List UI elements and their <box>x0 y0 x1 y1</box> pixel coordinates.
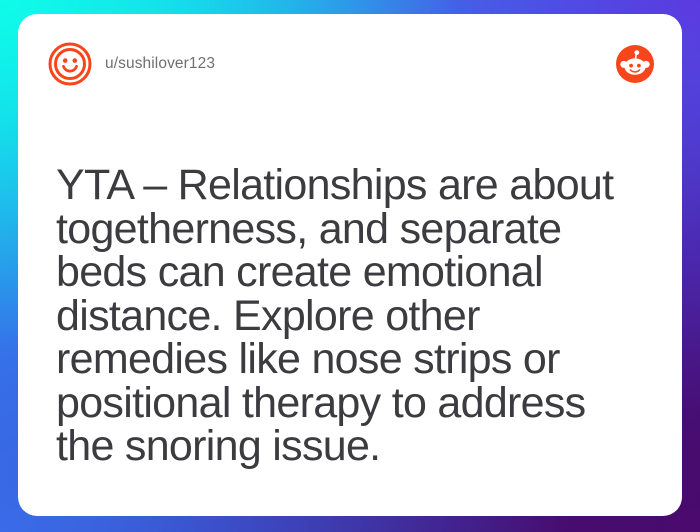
reddit-post-card: u/sushilover123 YTA – Relationship <box>18 14 682 516</box>
author-username[interactable]: u/sushilover123 <box>105 55 215 73</box>
author-block: u/sushilover123 <box>48 42 215 86</box>
post-header: u/sushilover123 <box>48 40 654 88</box>
smiley-face-avatar-icon[interactable] <box>48 42 92 86</box>
reddit-snoo-logo-icon[interactable] <box>616 45 654 83</box>
post-body: YTA – Relationships are about togetherne… <box>56 164 652 469</box>
gradient-background: u/sushilover123 YTA – Relationship <box>0 0 700 532</box>
post-text: YTA – Relationships are about togetherne… <box>56 164 652 469</box>
